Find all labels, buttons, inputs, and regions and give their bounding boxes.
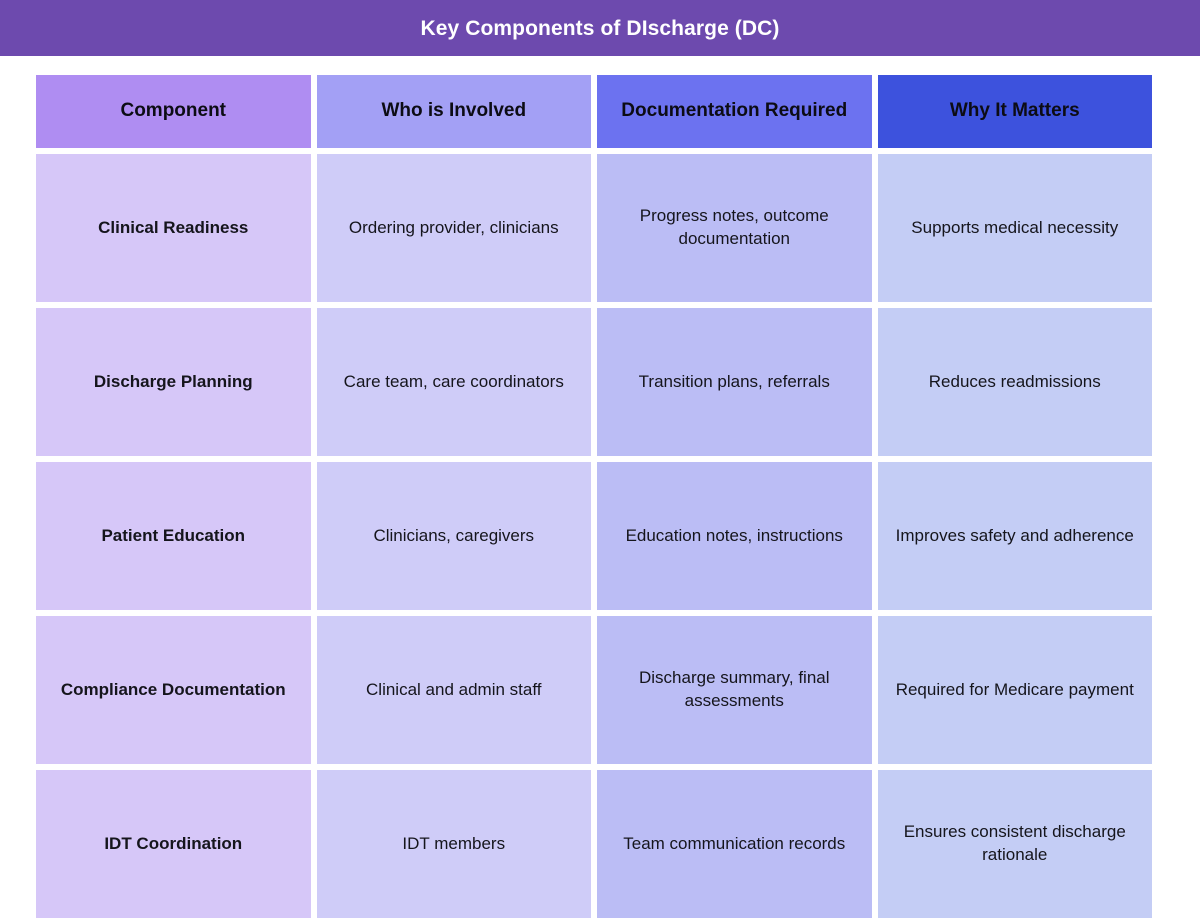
cell-who-is-involved: Ordering provider, clinicians bbox=[317, 154, 592, 302]
table-row: Compliance Documentation Clinical and ad… bbox=[36, 616, 1152, 764]
table-header: Component Who is Involved Documentation … bbox=[36, 75, 1152, 148]
cell-who-is-involved: Clinicians, caregivers bbox=[317, 462, 592, 610]
table-row: Discharge Planning Care team, care coord… bbox=[36, 308, 1152, 456]
cell-who-is-involved: Care team, care coordinators bbox=[317, 308, 592, 456]
page-title: Key Components of DIscharge (DC) bbox=[420, 18, 779, 39]
table-container: Component Who is Involved Documentation … bbox=[0, 56, 1200, 909]
key-components-table: Component Who is Involved Documentation … bbox=[30, 69, 1158, 924]
cell-why-it-matters: Improves safety and adherence bbox=[878, 462, 1153, 610]
title-bar: Key Components of DIscharge (DC) bbox=[0, 0, 1200, 56]
cell-documentation-required: Education notes, instructions bbox=[597, 462, 872, 610]
column-header-who-is-involved: Who is Involved bbox=[317, 75, 592, 148]
cell-why-it-matters: Ensures consistent discharge rationale bbox=[878, 770, 1153, 918]
cell-component: Compliance Documentation bbox=[36, 616, 311, 764]
cell-documentation-required: Transition plans, referrals bbox=[597, 308, 872, 456]
column-header-why-it-matters: Why It Matters bbox=[878, 75, 1153, 148]
table-row: Patient Education Clinicians, caregivers… bbox=[36, 462, 1152, 610]
cell-why-it-matters: Required for Medicare payment bbox=[878, 616, 1153, 764]
table-body: Clinical Readiness Ordering provider, cl… bbox=[36, 154, 1152, 918]
cell-who-is-involved: Clinical and admin staff bbox=[317, 616, 592, 764]
cell-why-it-matters: Reduces readmissions bbox=[878, 308, 1153, 456]
column-header-documentation-required: Documentation Required bbox=[597, 75, 872, 148]
cell-documentation-required: Discharge summary, final assessments bbox=[597, 616, 872, 764]
cell-documentation-required: Progress notes, outcome documentation bbox=[597, 154, 872, 302]
table-header-row: Component Who is Involved Documentation … bbox=[36, 75, 1152, 148]
cell-documentation-required: Team communication records bbox=[597, 770, 872, 918]
column-header-component: Component bbox=[36, 75, 311, 148]
cell-component: Clinical Readiness bbox=[36, 154, 311, 302]
cell-component: Discharge Planning bbox=[36, 308, 311, 456]
cell-component: Patient Education bbox=[36, 462, 311, 610]
cell-who-is-involved: IDT members bbox=[317, 770, 592, 918]
table-row: Clinical Readiness Ordering provider, cl… bbox=[36, 154, 1152, 302]
cell-why-it-matters: Supports medical necessity bbox=[878, 154, 1153, 302]
table-row: IDT Coordination IDT members Team commun… bbox=[36, 770, 1152, 918]
cell-component: IDT Coordination bbox=[36, 770, 311, 918]
